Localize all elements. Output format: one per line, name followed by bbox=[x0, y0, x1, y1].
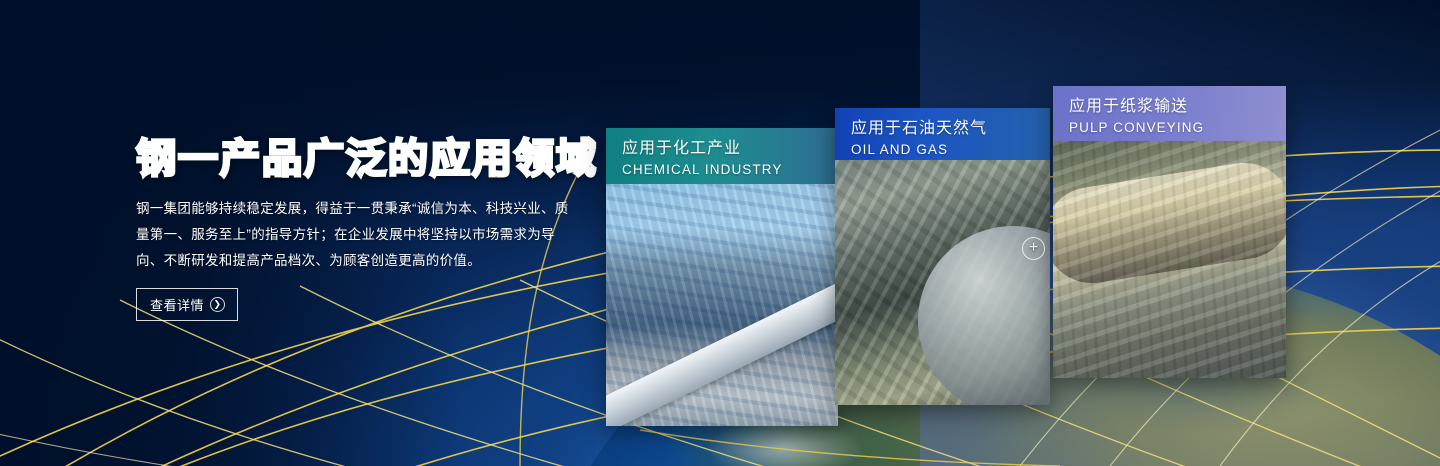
application-card-pulp-conveying[interactable]: 应用于纸浆输送 PULP CONVEYING bbox=[1053, 86, 1286, 378]
hero-copy: 钢一产品广泛的应用领域 钢一集团能够持续稳定发展，得益于一贯秉承“诚信为本、科技… bbox=[136, 138, 606, 321]
card-image-oil-and-gas bbox=[835, 160, 1050, 405]
card-image-chemical-industry bbox=[606, 184, 838, 426]
view-details-button[interactable]: 查看详情 ❯ bbox=[136, 288, 238, 321]
view-details-label: 查看详情 bbox=[150, 295, 204, 314]
application-card-chemical-industry[interactable]: 应用于化工产业 CHEMICAL INDUSTRY bbox=[606, 128, 838, 426]
card-title-en: OIL AND GAS bbox=[851, 142, 1036, 157]
chevron-right-circle-icon: ❯ bbox=[210, 297, 225, 312]
card-title-cn: 应用于纸浆输送 bbox=[1069, 97, 1272, 118]
card-title-cn: 应用于化工产业 bbox=[622, 139, 824, 160]
card-title-en: CHEMICAL INDUSTRY bbox=[622, 162, 824, 177]
page-title: 钢一产品广泛的应用领域 bbox=[136, 138, 606, 180]
card-caption: 应用于纸浆输送 PULP CONVEYING bbox=[1053, 86, 1286, 141]
card-title-cn: 应用于石油天然气 bbox=[851, 119, 1036, 140]
card-caption: 应用于化工产业 CHEMICAL INDUSTRY bbox=[606, 128, 838, 184]
hero-banner: 钢一产品广泛的应用领域 钢一集团能够持续稳定发展，得益于一贯秉承“诚信为本、科技… bbox=[0, 0, 1440, 466]
card-caption: 应用于石油天然气 OIL AND GAS bbox=[835, 108, 1050, 160]
card-image-texture bbox=[1053, 141, 1286, 378]
card-title-en: PULP CONVEYING bbox=[1069, 120, 1272, 135]
application-card-oil-and-gas[interactable]: 应用于石油天然气 OIL AND GAS bbox=[835, 108, 1050, 405]
plus-circle-icon[interactable]: + bbox=[1022, 237, 1045, 260]
card-image-pulp-conveying bbox=[1053, 141, 1286, 378]
hero-description: 钢一集团能够持续稳定发展，得益于一贯秉承“诚信为本、科技兴业、质量第一、服务至上… bbox=[136, 196, 581, 274]
